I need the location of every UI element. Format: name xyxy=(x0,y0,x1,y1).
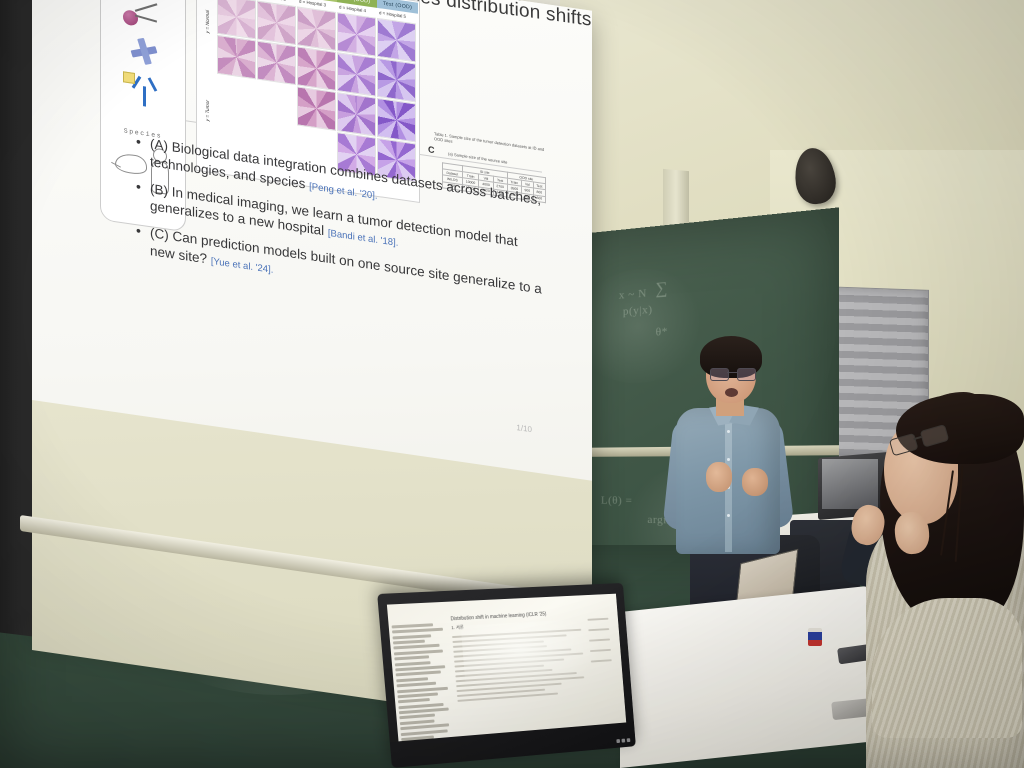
tray-icon[interactable] xyxy=(616,739,620,743)
sidebar-list-item[interactable] xyxy=(398,698,430,703)
sidebar-list-item[interactable] xyxy=(395,661,431,666)
sidebar-list-item[interactable] xyxy=(392,628,443,634)
slide-content-plane: ons, machine learning often faces distri… xyxy=(38,0,558,479)
sidebar-list-item[interactable] xyxy=(394,656,429,661)
sidebar-list-item[interactable] xyxy=(397,682,437,688)
tray-icon[interactable] xyxy=(627,738,631,742)
histology-tile xyxy=(297,46,336,91)
sidebar-list-item[interactable] xyxy=(392,634,431,639)
histology-tile xyxy=(377,98,416,143)
histology-tile xyxy=(257,41,296,86)
sidebar-list-item[interactable] xyxy=(393,640,425,645)
histology-tile xyxy=(297,86,336,131)
audience-folded-arms xyxy=(872,598,1022,738)
antibody-arm-right-icon xyxy=(148,77,158,91)
sidebar-list-item[interactable] xyxy=(397,686,448,693)
antibody-stem-icon xyxy=(143,86,146,106)
slide-page-number: 1/10 xyxy=(516,423,532,434)
lecture-room-scene: x ~ N p(y|x) ∑ θ* L(θ) = argmin D_s → D_… xyxy=(0,0,1024,768)
bullet-citation: [Yue et al. '24]. xyxy=(211,256,274,276)
speaker-right-hand xyxy=(742,468,768,496)
sidebar-list-item[interactable] xyxy=(396,671,441,677)
app-sidebar[interactable] xyxy=(388,618,458,736)
histology-tile xyxy=(337,52,376,97)
antibody-tag-icon xyxy=(123,71,135,84)
panel-c-tag: C xyxy=(428,144,435,155)
histology-tile xyxy=(377,18,416,63)
histology-tile xyxy=(297,6,336,51)
sidebar-list-item[interactable] xyxy=(392,623,434,628)
speaker-left-hand xyxy=(706,462,732,492)
audience-bangs xyxy=(896,394,1024,464)
sidebar-list-item[interactable] xyxy=(393,644,440,650)
speaker-mouth xyxy=(725,388,738,397)
histology-tile xyxy=(257,1,296,46)
monitor-screen xyxy=(822,459,878,509)
pipette-stem-icon xyxy=(135,3,158,11)
tray-icon[interactable] xyxy=(621,739,625,743)
sidebar-list-item[interactable] xyxy=(398,692,438,698)
histology-tile xyxy=(217,0,256,39)
histology-tile xyxy=(377,58,416,103)
speaker-glasses-icon xyxy=(710,368,754,379)
sidebar-list-item[interactable] xyxy=(399,708,449,715)
foreground-laptop-screen[interactable]: Distribution shift in machine learning (… xyxy=(387,594,626,742)
bullet-citation: [Bandi et al. '18]. xyxy=(328,228,398,249)
projection-screen-assembly: ons, machine learning often faces distri… xyxy=(0,0,620,670)
sidebar-list-item[interactable] xyxy=(394,649,443,655)
panel-b-row-label-normal: y = Normal xyxy=(206,10,211,34)
histology-tile xyxy=(217,35,256,80)
screen-glare xyxy=(461,618,606,695)
bullet-citation: [Peng et al. '20]. xyxy=(309,181,377,202)
sidebar-list-item[interactable] xyxy=(401,735,434,741)
drink-can xyxy=(808,628,822,646)
sidebar-list-item[interactable] xyxy=(401,729,448,736)
taskbar-tray[interactable] xyxy=(616,738,630,743)
histology-tile xyxy=(337,92,376,137)
pipette-tip-icon xyxy=(135,14,157,22)
pipette-bulb-icon xyxy=(123,9,138,26)
histology-tile xyxy=(337,12,376,57)
panel-b-row-label-tumor: y = Tumor xyxy=(206,100,211,122)
foreground-laptop[interactable]: Distribution shift in machine learning (… xyxy=(377,583,636,768)
sidebar-list-item[interactable] xyxy=(396,677,428,682)
